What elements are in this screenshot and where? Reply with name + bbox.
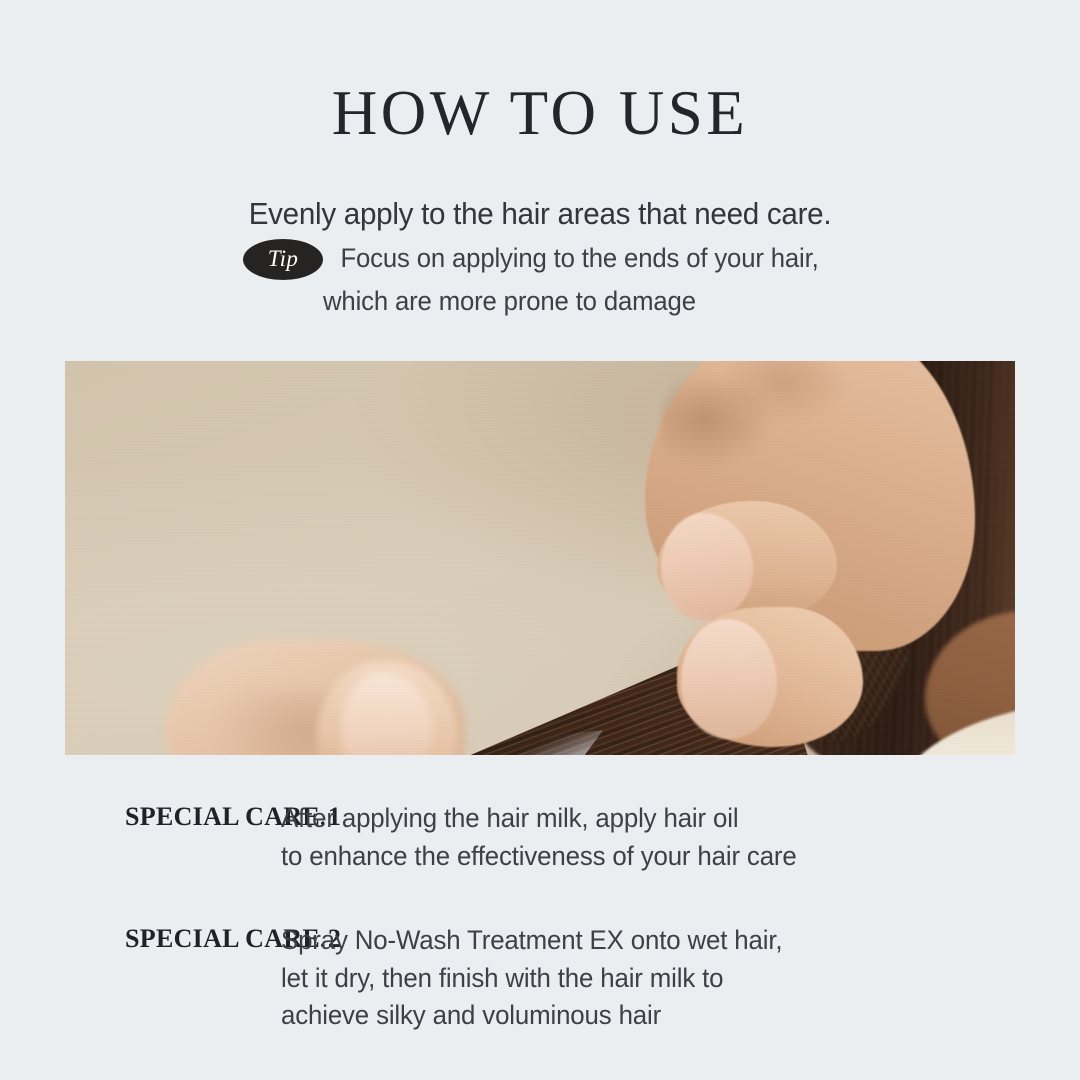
special-care-body-2: Spray No-Wash Treatment EX onto wet hair… [281, 922, 1060, 1035]
special-care-body-line: to enhance the effectiveness of your hai… [281, 838, 1060, 876]
tip-badge: Tip [243, 239, 323, 280]
tip-text: Focus on applying to the ends of your ha… [323, 238, 819, 314]
header: HOW TO USE Evenly apply to the hair area… [0, 0, 1080, 229]
tip-badge-label: Tip [268, 247, 299, 272]
special-care-body-1: After applying the hair milk, apply hair… [281, 800, 1060, 875]
special-care-body-line: achieve silky and voluminous hair [281, 997, 1060, 1035]
special-care-row-1: SPECIAL CARE.1 After applying the hair m… [0, 800, 1080, 875]
special-care-label-1: SPECIAL CARE.1 [0, 800, 281, 830]
how-to-use-page: HOW TO USE Evenly apply to the hair area… [0, 0, 1080, 1080]
page-title: HOW TO USE [0, 0, 1080, 145]
hair-application-photo [65, 361, 1015, 755]
tip-row: Tip Focus on applying to the ends of you… [243, 238, 863, 314]
tip-text-line-1: Focus on applying to the ends of your ha… [340, 243, 818, 273]
special-care-label-2: SPECIAL CARE.2 [0, 922, 281, 952]
special-care-list: SPECIAL CARE.1 After applying the hair m… [0, 800, 1080, 1035]
special-care-row-2: SPECIAL CARE.2 Spray No-Wash Treatment E… [0, 922, 1080, 1035]
special-care-body-line: Spray No-Wash Treatment EX onto wet hair… [281, 922, 1060, 960]
special-care-body-line: let it dry, then finish with the hair mi… [281, 960, 1060, 998]
special-care-body-line: After applying the hair milk, apply hair… [281, 800, 1060, 838]
tip-block: Tip Focus on applying to the ends of you… [243, 238, 863, 314]
tip-text-line-2: which are more prone to damage [323, 272, 819, 315]
page-subtitle: Evenly apply to the hair areas that need… [24, 145, 1055, 229]
